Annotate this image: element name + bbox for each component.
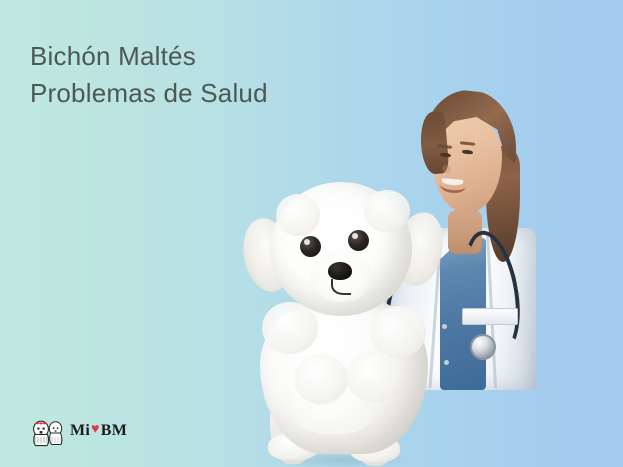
banner-canvas: Bichón Maltés Problemas de Salud bbox=[0, 0, 623, 467]
vet-nose bbox=[442, 165, 451, 173]
dog-fur-tuft bbox=[262, 302, 318, 354]
dog-fur-tuft bbox=[370, 306, 426, 358]
title-line-1: Bichón Maltés bbox=[30, 38, 370, 75]
logo-text-first: Mi bbox=[70, 423, 90, 439]
logo-text-second: BM bbox=[101, 423, 127, 439]
vet-name-badge bbox=[462, 308, 518, 325]
dog-fur-tuft bbox=[346, 352, 402, 402]
logo-wordmark: Mi ♥ BM bbox=[70, 423, 127, 439]
dog-head-tuft bbox=[364, 190, 410, 232]
dog-nose bbox=[328, 262, 352, 280]
page-title: Bichón Maltés Problemas de Salud bbox=[30, 38, 370, 112]
two-bichon-dogs-icon bbox=[28, 414, 68, 448]
brand-logo[interactable]: Mi ♥ BM bbox=[28, 412, 124, 450]
bichon-dog-figure bbox=[236, 176, 448, 467]
dog-eye-left bbox=[300, 236, 321, 257]
dog-eye-right bbox=[348, 230, 369, 251]
dog-head-tuft bbox=[276, 194, 320, 236]
stethoscope-chestpiece bbox=[470, 334, 496, 360]
title-line-2: Problemas de Salud bbox=[30, 75, 370, 112]
heart-icon: ♥ bbox=[91, 423, 100, 437]
dog-fur-tuft bbox=[294, 354, 348, 404]
